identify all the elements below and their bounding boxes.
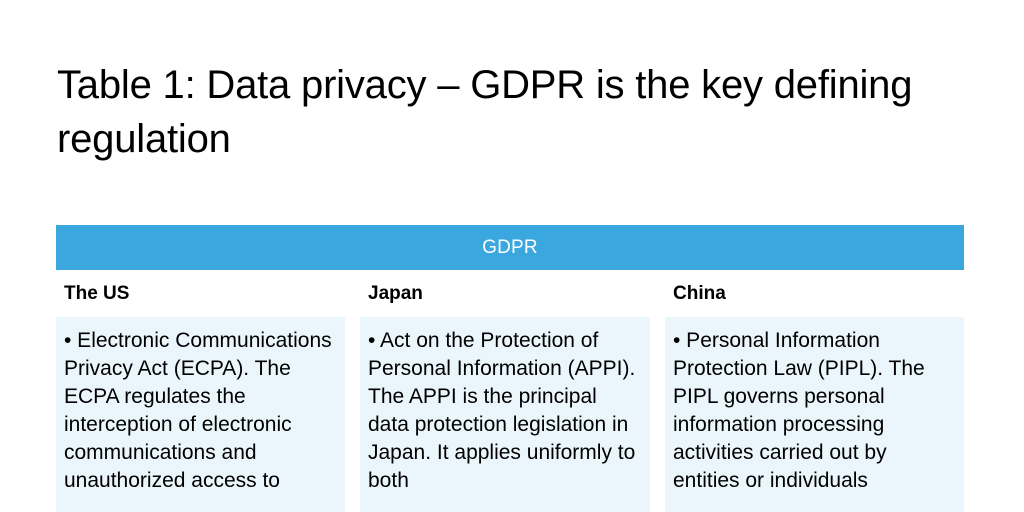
header-gutter-2 [650, 270, 665, 317]
body-gutter-1 [345, 317, 360, 512]
body-gutter-2 [650, 317, 665, 512]
table-cell-japan: • Act on the Protection of Personal Info… [360, 317, 650, 512]
table-banner-row: GDPR [56, 225, 964, 270]
column-header-the-us: The US [56, 270, 345, 317]
data-privacy-table: GDPR The US Japan China • Electronic Com… [56, 225, 964, 512]
column-header-japan: Japan [360, 270, 650, 317]
table-row: • Electronic Communications Privacy Act … [56, 317, 964, 512]
table-cell-the-us: • Electronic Communications Privacy Act … [56, 317, 345, 512]
table-banner-gdpr: GDPR [56, 225, 964, 270]
page-title: Table 1: Data privacy – GDPR is the key … [57, 58, 957, 166]
table-header-row: The US Japan China [56, 270, 964, 317]
header-gutter-1 [345, 270, 360, 317]
slide-canvas: Table 1: Data privacy – GDPR is the key … [0, 0, 1024, 512]
table-cell-china: • Personal Information Protection Law (P… [665, 317, 964, 512]
column-header-china: China [665, 270, 964, 317]
